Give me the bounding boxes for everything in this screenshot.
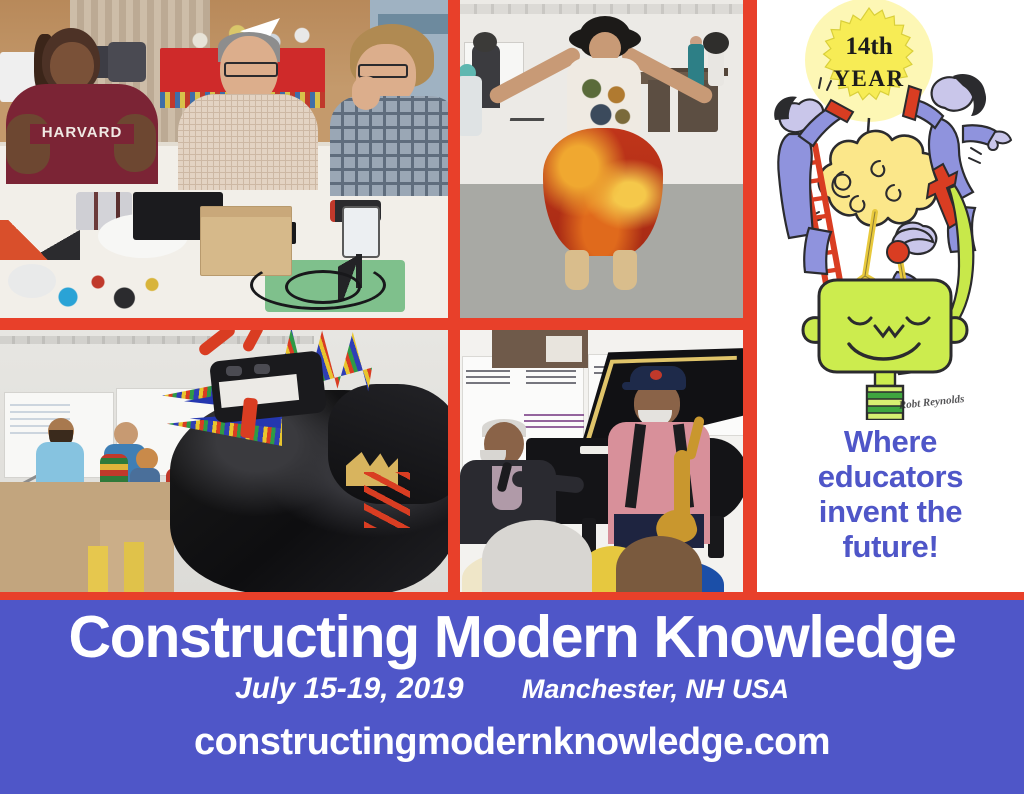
poster-root: HARVARD [0,0,1024,794]
saxophone [656,416,714,544]
tagline-line-3: invent the [757,494,1024,529]
green-character-head [803,280,967,372]
branding-panel: 14th YEAR [757,0,1024,592]
event-details-row: July 15-19, 2019 Manchester, NH USA [0,674,1024,704]
leaping-dancer [487,16,717,296]
person-with-harvard-shirt: HARVARD [6,28,158,178]
badge-line1: 14th [845,33,892,60]
event-location: Manchester, NH USA [522,676,789,703]
photo-dancer-leaping [460,0,743,318]
harvard-shirt-text: HARVARD [30,124,134,144]
photo-giant-dragon-puppet [0,330,448,592]
photo-jazz-musicians-piano-sax [460,330,743,592]
character-neck-stand [867,372,903,420]
cmk-illustration: 14th YEAR [757,0,1024,420]
photo-illustration-jazz [460,330,743,592]
photo-illustration-makers: HARVARD [0,0,448,318]
person-center-checked-shirt [178,36,318,178]
event-dates: July 15-19, 2019 [235,674,464,704]
badge-line2: YEAR [833,66,904,91]
event-info-band: Constructing Modern Knowledge July 15-19… [0,600,1024,794]
photo-illustration-dragon [0,330,448,592]
photo-illustration-dancer [460,0,743,318]
photo-collage: HARVARD [0,0,1024,600]
dragon-puppet [150,332,448,592]
event-website[interactable]: constructingmodernknowledge.com [0,723,1024,761]
event-title: Constructing Modern Knowledge [0,608,1024,667]
tagline-line-1: Where [757,424,1024,459]
photo-makers-electronics-workshop: HARVARD [0,0,448,318]
person-right-plaid-shirt [330,24,448,184]
tagline: Where educators invent the future! [757,424,1024,564]
tagline-line-4: future! [757,529,1024,564]
tagline-line-2: educators [757,459,1024,494]
